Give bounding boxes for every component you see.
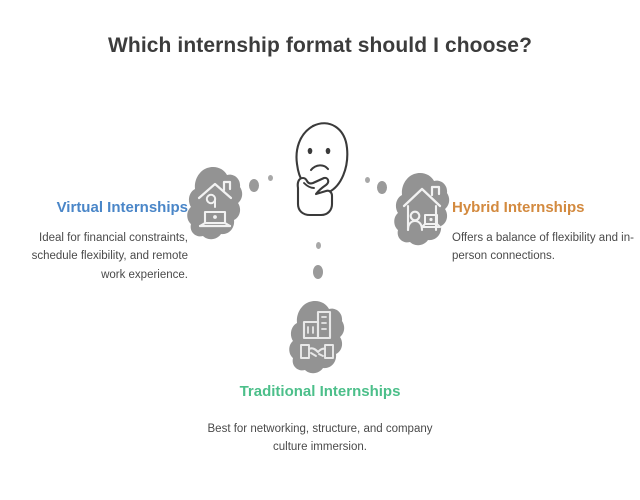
node-hybrid-body: Offers a balance of flexibility and in-p… bbox=[452, 229, 634, 266]
node-hybrid-heading: Hybrid Internships bbox=[452, 199, 634, 218]
thinking-face-icon bbox=[283, 116, 363, 220]
house-person-laptop-icon bbox=[393, 172, 451, 250]
office-building-handshake-icon bbox=[288, 300, 346, 378]
connector-dot-bottom-outer bbox=[313, 265, 323, 279]
node-traditional-internships: Traditional Internships Best for network… bbox=[205, 383, 435, 457]
node-hybrid-internships: Hybrid Internships Offers a balance of f… bbox=[452, 199, 634, 266]
node-traditional-heading: Traditional Internships bbox=[205, 383, 435, 402]
connector-dot-left-inner bbox=[268, 175, 273, 181]
node-virtual-internships: Virtual Internships Ideal for financial … bbox=[8, 199, 188, 285]
node-virtual-heading: Virtual Internships bbox=[8, 199, 188, 218]
node-virtual-body: Ideal for financial constraints, schedul… bbox=[8, 229, 188, 285]
node-traditional-body: Best for networking, structure, and comp… bbox=[205, 420, 435, 457]
infographic-canvas: Which internship format should I choose? bbox=[0, 0, 640, 500]
connector-dot-right-inner bbox=[365, 177, 370, 183]
page-title: Which internship format should I choose? bbox=[0, 34, 640, 58]
connector-dot-left-outer bbox=[249, 179, 259, 192]
house-laptop-icon bbox=[186, 166, 244, 244]
connector-dot-right-outer bbox=[377, 181, 387, 194]
connector-dot-bottom-inner bbox=[316, 242, 321, 249]
